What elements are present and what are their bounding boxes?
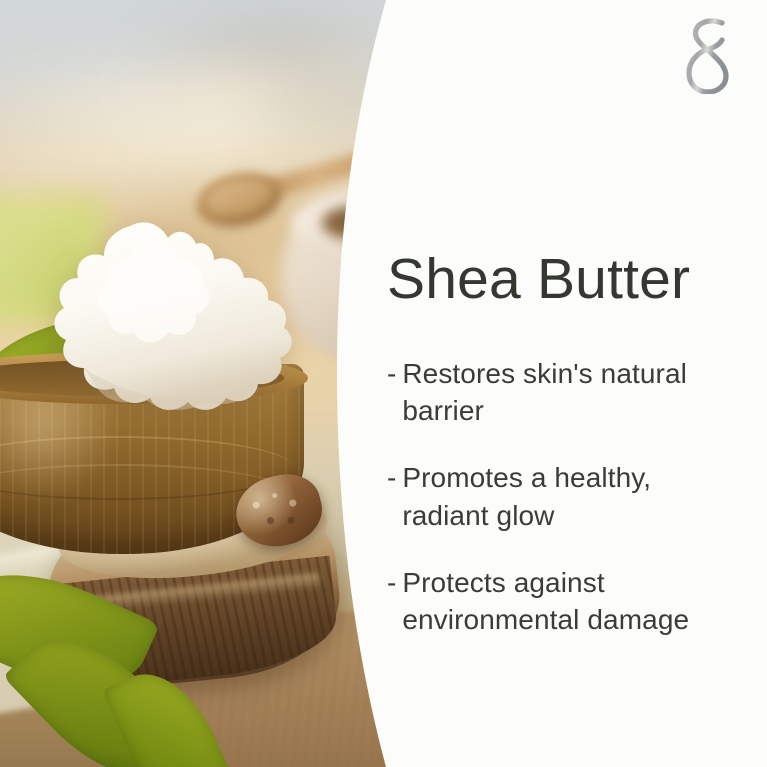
delta-logo-icon[interactable] — [682, 16, 734, 94]
page-title: Shea Butter — [387, 250, 690, 310]
bullet-dash-icon: - — [387, 355, 396, 392]
benefit-text: Protects against environmental damage — [402, 564, 727, 638]
bullet-dash-icon: - — [387, 459, 396, 496]
list-item: - Restores skin's natural barrier — [387, 355, 727, 429]
benefits-list: - Restores skin's natural barrier - Prom… — [387, 355, 727, 638]
list-item: - Promotes a healthy, radiant glow — [387, 459, 727, 533]
shea-butter-bowl-photo — [0, 0, 420, 767]
content-column: Shea Butter - Restores skin's natural ba… — [387, 0, 737, 767]
bullet-dash-icon: - — [387, 564, 396, 601]
shea-butter-product-card: Shea Butter - Restores skin's natural ba… — [0, 0, 767, 767]
benefit-text: Restores skin's natural barrier — [402, 355, 727, 429]
list-item: - Protects against environmental damage — [387, 564, 727, 638]
white-shea-butter-mound — [18, 218, 310, 418]
blurred-mortar-hole — [322, 206, 390, 240]
benefit-text: Promotes a healthy, radiant glow — [402, 459, 727, 533]
